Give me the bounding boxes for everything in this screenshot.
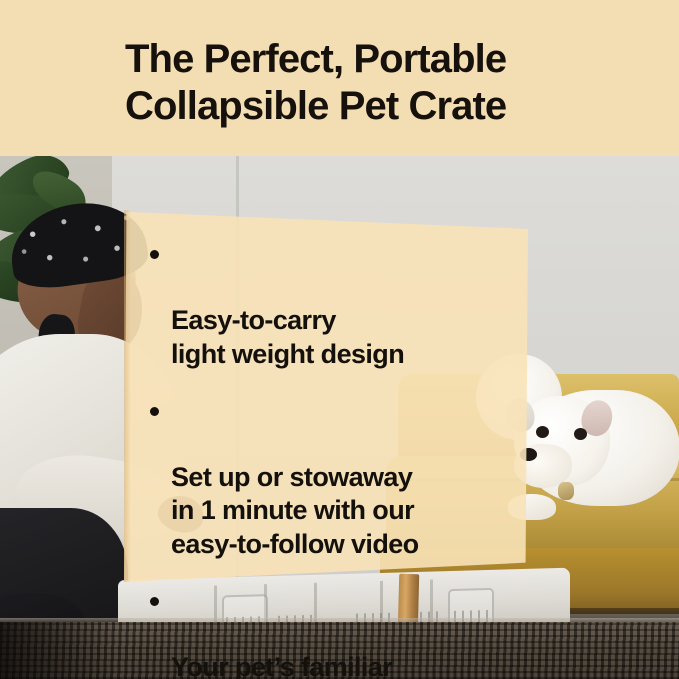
list-item-label: Set up or stowaway in 1 minute with our … [171,462,419,558]
list-item: Easy-to-carry light weight design [150,238,540,371]
rug-shadow [0,622,120,679]
benefits-list: Easy-to-carry light weight design Set up… [150,238,540,679]
bullet-dot-icon [150,250,159,259]
list-item: Set up or stowaway in 1 minute with our … [150,395,540,561]
bullet-dot-icon [150,407,159,416]
page-title: The Perfect, Portable Collapsible Pet Cr… [125,36,645,130]
bullet-dot-icon [150,597,159,606]
benefits-panel-edge [124,210,131,582]
list-item: Your pet’s familiar home away from home [150,585,540,679]
ad-creative: Easy-to-carry light weight design Set up… [0,0,679,679]
dog-eye-right [574,428,587,440]
header-band: The Perfect, Portable Collapsible Pet Cr… [0,0,679,156]
dog-collar-tag [558,482,574,500]
list-item-label: Your pet’s familiar home away from home [171,652,452,679]
list-item-label: Easy-to-carry light weight design [171,305,404,368]
